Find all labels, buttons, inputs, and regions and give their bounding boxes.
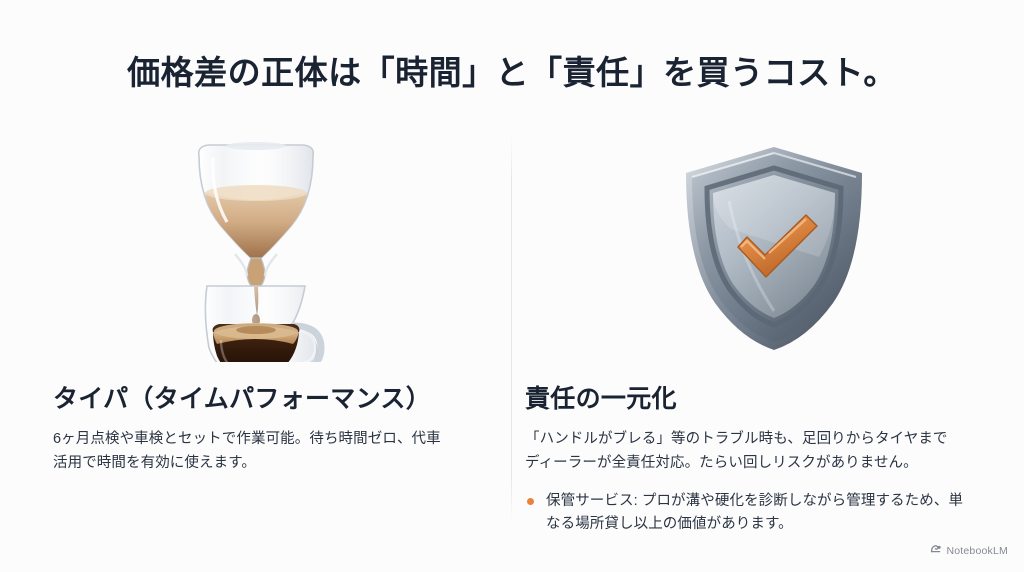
notebooklm-logo-icon (930, 542, 942, 560)
column-heading-time-performance: タイパ（タイムパフォーマンス） (53, 384, 511, 414)
column-heading-responsibility: 責任の一元化 (525, 384, 1024, 414)
hourglass-coffee-graphic (151, 134, 361, 362)
shield-checkmark-illustration (511, 130, 1024, 366)
list-item: 保管サービス: プロが溝や硬化を診断しながら管理するため、単なる場所貸し以上の価… (525, 490, 967, 537)
column-time-performance: タイパ（タイムパフォーマンス） 6ヶ月点検や車検とセットで作業可能。待ち時間ゼロ… (0, 130, 511, 476)
notebooklm-watermark: NotebookLM (930, 542, 1008, 560)
column-body-time-performance: 6ヶ月点検や車検とセットで作業可能。待ち時間ゼロ、代車活用で時間を有効に使えます… (53, 428, 451, 476)
bullet-dot-icon (527, 498, 534, 505)
list-item-label: 保管サービス: プロが溝や硬化を診断しながら管理するため、単なる場所貸し以上の価… (546, 493, 963, 532)
hourglass-coffee-illustration (0, 130, 511, 366)
column-responsibility-unification: 責任の一元化 「ハンドルがブレる」等のトラブル時も、足回りからタイヤまでディーラ… (511, 130, 1024, 537)
page-title: 価格差の正体は「時間」と「責任」を買うコスト。 (0, 52, 1024, 93)
notebooklm-watermark-label: NotebookLM (946, 545, 1008, 557)
shield-checkmark-graphic (669, 141, 879, 356)
column-body-responsibility: 「ハンドルがブレる」等のトラブル時も、足回りからタイヤまでディーラーが全責任対応… (525, 428, 955, 476)
bullet-list-responsibility: 保管サービス: プロが溝や硬化を診断しながら管理するため、単なる場所貸し以上の価… (525, 490, 967, 537)
slide-canvas: 価格差の正体は「時間」と「責任」を買うコスト。 (0, 0, 1024, 572)
